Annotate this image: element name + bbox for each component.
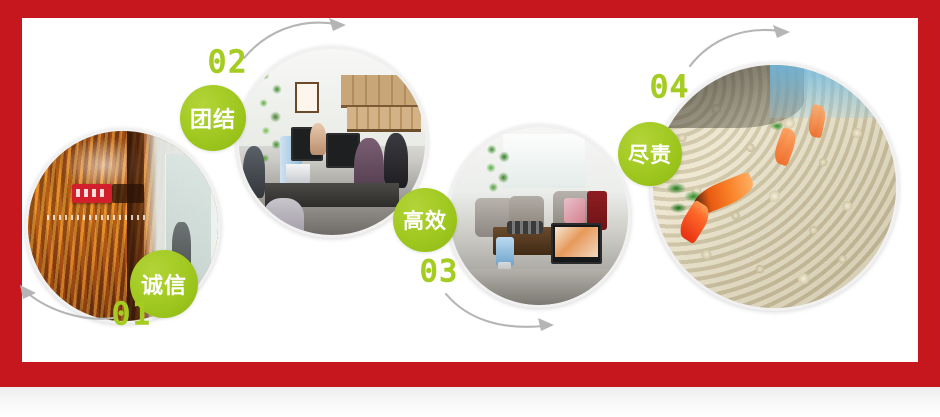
employee-far-left [243,146,265,198]
arrow-step-03 [440,290,570,336]
badge-label-04: 尽责 [628,139,672,169]
sign-subtitle-text [47,215,146,221]
employee-right [384,133,408,189]
company-sign-red-plate [72,184,112,203]
badge-label-01: 诚信 [141,268,187,300]
arrow-step-01 [10,282,120,324]
photo-3-scene [450,127,628,305]
employee-background [310,123,327,155]
lounge-reception-photo[interactable] [447,124,631,308]
badge-step-02[interactable]: 团结 [180,85,246,151]
display-monitor [551,223,601,264]
tea-set [507,221,543,233]
badge-step-03[interactable]: 高效 [393,188,457,252]
step-number-03: 03 [420,257,459,286]
lounge-plant [480,141,519,202]
badge-label-02: 团结 [190,102,236,134]
company-sign-dark-plate [112,184,144,203]
arrow-step-04 [686,22,806,70]
arrow-step-02 [240,16,360,62]
storage-boxes-upper [341,75,419,108]
frame-drop-shadow [0,387,940,417]
wall-picture-frame [295,82,319,112]
badge-step-04[interactable]: 尽责 [618,122,682,186]
poster-canvas: 诚信 01 团结 02 [0,0,940,417]
step-number-04: 04 [650,73,690,103]
storage-boxes-lower [347,107,421,132]
badge-label-03: 高效 [403,205,447,235]
office-chair [263,198,304,238]
sofa-cushion [564,198,585,223]
